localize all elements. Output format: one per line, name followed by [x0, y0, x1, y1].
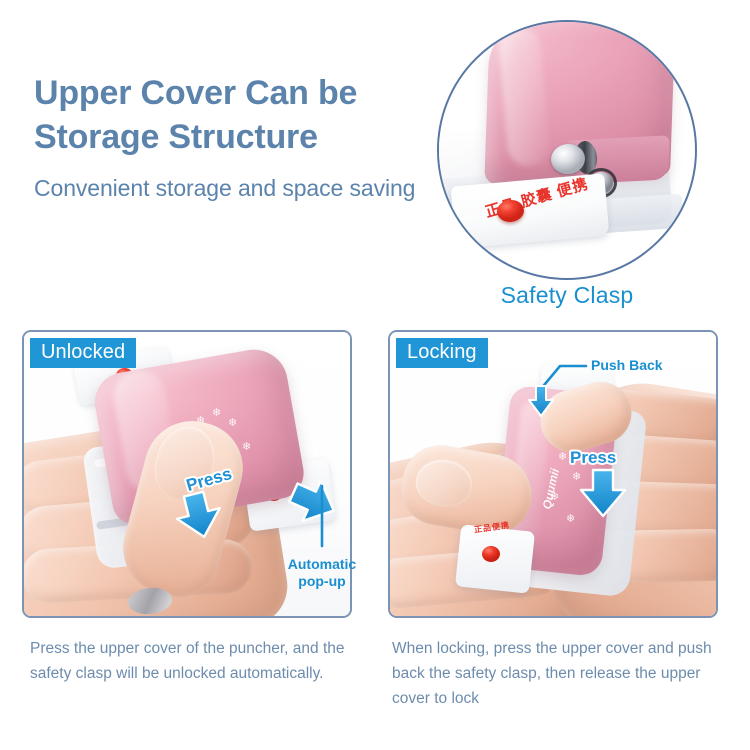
- status-badge-locking: Locking: [396, 338, 488, 368]
- callout-automatic-pop-up: Automatic pop-up: [282, 556, 362, 590]
- flower-icon: ❄: [212, 408, 221, 419]
- flower-icon: ❄: [550, 492, 559, 503]
- headline-block: Upper Cover Can be Storage Structure Con…: [34, 72, 434, 204]
- page-subtitle: Convenient storage and space saving: [34, 173, 434, 204]
- safety-clasp-hero: 正品 胶囊 便携: [437, 20, 697, 280]
- status-badge-unlocked: Unlocked: [30, 338, 136, 368]
- step-panel-locking: Quumii ❄ ❄ ❄ ❄ 正品便携 Locking: [388, 330, 718, 618]
- clasp-lower-red-button: [482, 546, 500, 562]
- callout-press-right: Press: [570, 448, 616, 468]
- flower-icon: ❄: [228, 418, 237, 429]
- caption-unlocked: Press the upper cover of the puncher, an…: [30, 636, 360, 686]
- hero-product-photo: 正品 胶囊 便携: [439, 22, 695, 278]
- hero-circle-frame: 正品 胶囊 便携: [437, 20, 697, 280]
- page-title: Upper Cover Can be Storage Structure: [34, 72, 434, 159]
- infographic-page: Upper Cover Can be Storage Structure Con…: [0, 0, 750, 750]
- locking-photo: Quumii ❄ ❄ ❄ ❄ 正品便携: [390, 332, 716, 616]
- caption-locking: When locking, press the upper cover and …: [392, 636, 722, 711]
- flower-icon: ❄: [558, 452, 567, 463]
- flower-icon: ❄: [572, 472, 581, 483]
- hero-caption: Safety Clasp: [437, 282, 697, 309]
- callout-push-back: Push Back: [591, 357, 663, 374]
- flower-icon: ❄: [242, 442, 251, 453]
- flower-icon: ❄: [566, 514, 575, 525]
